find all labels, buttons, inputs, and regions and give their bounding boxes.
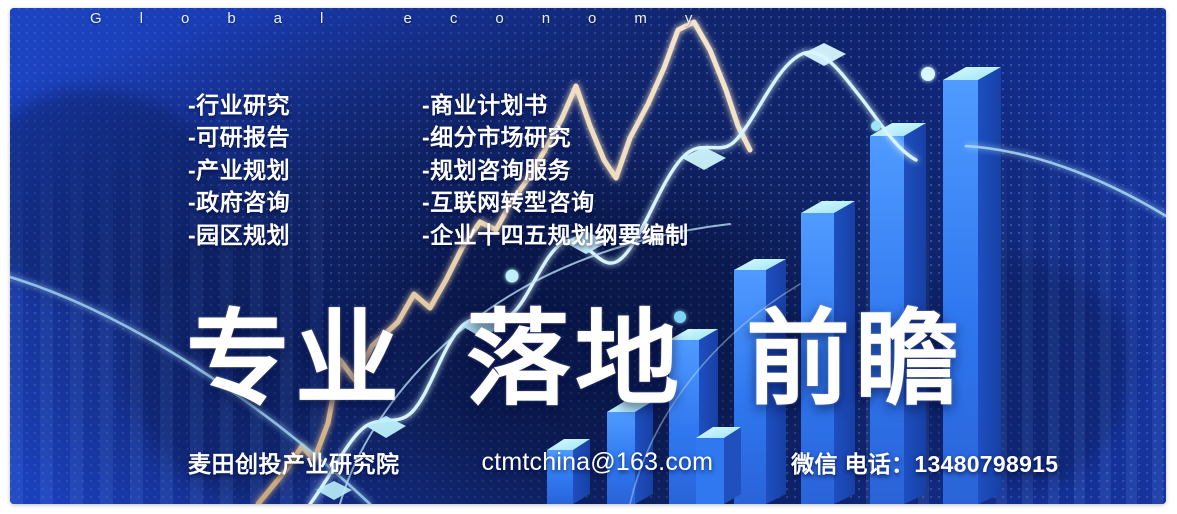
banner-image: Global economy -行业研究 -可研报告 -产业规划 -政府咨询 -…	[10, 8, 1166, 504]
services-list-right: -商业计划书 -细分市场研究 -规划咨询服务 -互联网转型咨询 -企业十四五规划…	[422, 94, 689, 247]
service-item: -可研报告	[188, 126, 290, 149]
service-item: -产业规划	[188, 159, 290, 182]
service-item: -细分市场研究	[422, 126, 689, 149]
headline-word-1: 专业	[186, 308, 404, 412]
headline: 专业 落地 前瞻	[186, 308, 964, 412]
services-list-left: -行业研究 -可研报告 -产业规划 -政府咨询 -园区规划	[188, 94, 290, 247]
infographic-artwork	[10, 8, 1166, 504]
headline-word-2: 落地	[466, 308, 684, 412]
service-item: -规划咨询服务	[422, 159, 689, 182]
contact-phone: 微信 电话：13480798915	[791, 445, 1058, 479]
headline-word-3: 前瞻	[746, 308, 964, 412]
service-item: -园区规划	[188, 224, 290, 247]
bar-7	[943, 67, 1001, 504]
footer-contact-bar: 麦田创投产业研究院 ctmtchina@163.com 微信 电话：134807…	[188, 445, 1058, 479]
service-item: -商业计划书	[422, 94, 689, 117]
service-item: -互联网转型咨询	[422, 191, 689, 214]
kicker-text: Global economy	[90, 10, 1090, 27]
email-address: ctmtchina@163.com	[482, 448, 714, 477]
organization-name: 麦田创投产业研究院	[188, 445, 400, 479]
service-item: -企业十四五规划纲要编制	[422, 224, 689, 247]
service-item: -行业研究	[188, 94, 290, 117]
service-item: -政府咨询	[188, 191, 290, 214]
